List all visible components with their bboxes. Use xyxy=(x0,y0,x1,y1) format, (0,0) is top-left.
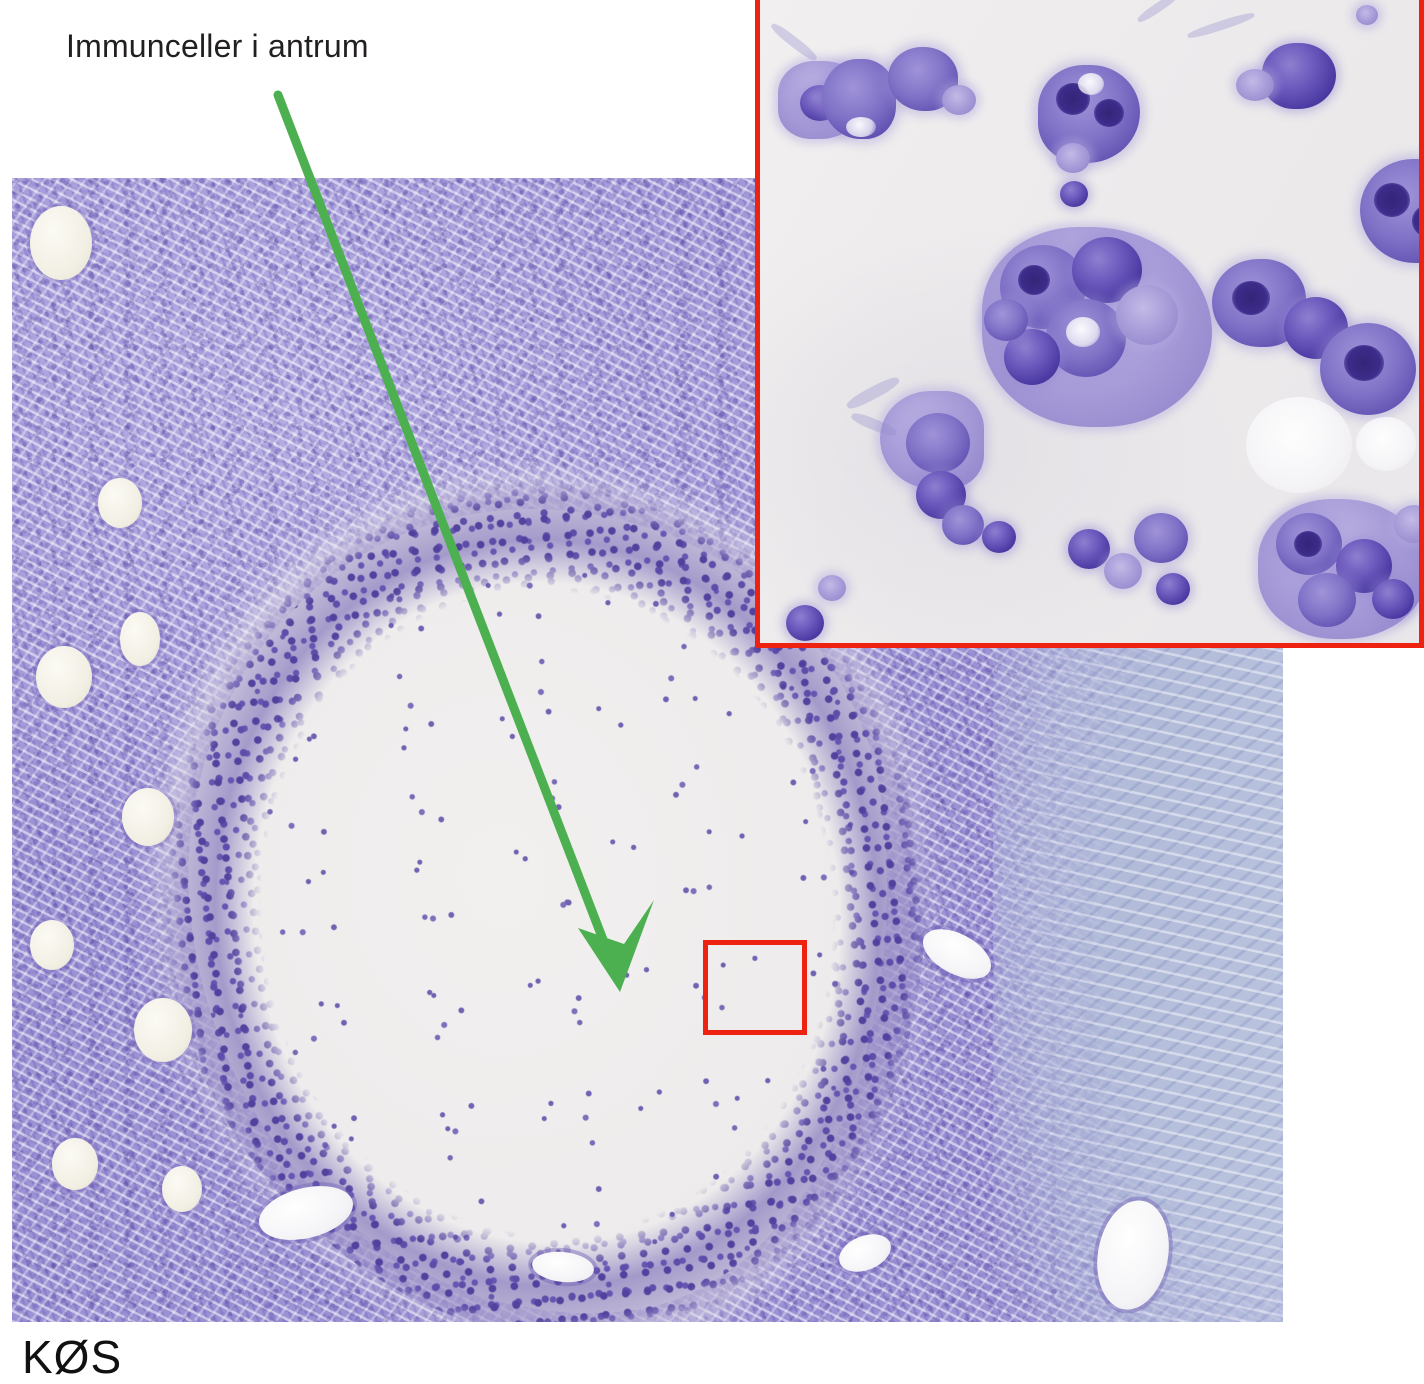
primordial-follicle xyxy=(52,1138,98,1190)
immune-cell xyxy=(818,575,846,601)
cytoplasm-vacuole xyxy=(1066,317,1100,347)
high-magnification-inset xyxy=(755,0,1424,648)
primordial-follicle xyxy=(122,788,174,846)
cytoplasm-vacuole xyxy=(846,117,876,137)
slide-footer: KØS xyxy=(22,1330,122,1384)
primordial-follicle xyxy=(36,646,92,708)
immune-cell xyxy=(1134,513,1188,563)
immune-cell xyxy=(1156,573,1190,605)
immune-cell xyxy=(1056,143,1090,173)
nucleus-lobe xyxy=(1232,281,1270,315)
immune-cell xyxy=(982,521,1016,553)
cytoplasm-vacuole xyxy=(1246,397,1352,493)
immune-cell xyxy=(1116,285,1178,345)
page-title: Immunceller i antrum xyxy=(66,28,369,65)
primordial-follicle xyxy=(162,1166,202,1212)
immune-cell xyxy=(906,413,970,473)
immune-cell xyxy=(984,299,1028,341)
immune-cell xyxy=(1060,181,1088,207)
primordial-follicle xyxy=(134,998,192,1062)
immune-cell xyxy=(1068,529,1110,569)
primordial-follicle xyxy=(98,478,142,528)
nucleus-lobe xyxy=(1374,183,1410,217)
immune-cell xyxy=(1356,5,1378,25)
immune-cell xyxy=(1298,573,1356,627)
primordial-follicle xyxy=(30,206,92,280)
immune-cell xyxy=(942,505,984,545)
immune-cell xyxy=(1236,69,1274,101)
slide-canvas: Immunceller i antrum xyxy=(0,0,1424,1354)
red-region-of-interest xyxy=(703,940,807,1035)
cytoplasm-vacuole xyxy=(1078,73,1104,95)
immune-cell xyxy=(942,85,976,115)
primordial-follicle xyxy=(120,612,160,666)
cytoplasm-vacuole xyxy=(1356,417,1416,471)
nucleus-lobe xyxy=(1294,531,1322,557)
primordial-follicle xyxy=(30,920,74,970)
nucleus-lobe xyxy=(1018,265,1050,295)
immune-cell xyxy=(1104,553,1142,589)
immune-cell xyxy=(1372,579,1414,619)
nucleus-lobe xyxy=(1344,345,1384,381)
immune-cell xyxy=(786,605,824,641)
nucleus-lobe xyxy=(1094,99,1124,127)
immune-cell xyxy=(1262,43,1336,109)
